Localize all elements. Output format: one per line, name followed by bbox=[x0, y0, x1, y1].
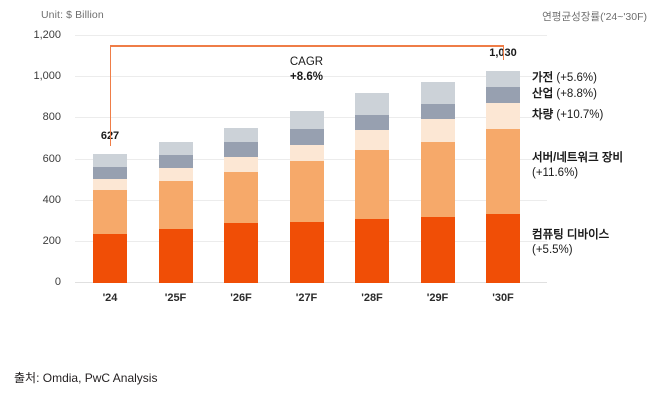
y-axis-tick-label: 1,000 bbox=[33, 70, 61, 82]
series-label-name: 가전 bbox=[532, 72, 553, 84]
bar-total-label: 1,030 bbox=[489, 47, 517, 59]
bar-group[interactable]: '29F bbox=[421, 82, 455, 283]
bar-segment[interactable] bbox=[224, 128, 258, 142]
bar-segment[interactable] bbox=[355, 130, 389, 150]
series-label-name: 서버/네트워크 장비 bbox=[532, 152, 623, 164]
x-axis-tick-label: '25F bbox=[165, 292, 187, 304]
bar-segment[interactable] bbox=[224, 157, 258, 172]
series-label-3: 차량 (+10.7%) bbox=[532, 108, 603, 123]
bar-segment[interactable] bbox=[486, 103, 520, 129]
bar-segment[interactable] bbox=[290, 129, 324, 145]
series-label-name: 차량 bbox=[532, 109, 553, 121]
y-axis-tick-label: 0 bbox=[55, 276, 61, 288]
chart-container: Unit: $ Billion 연평균성장률('24~'30F) 0200400… bbox=[0, 0, 655, 402]
series-label-cagr: (+11.6%) bbox=[532, 167, 578, 179]
x-axis-tick-label: '26F bbox=[230, 292, 252, 304]
bar-segment[interactable] bbox=[486, 129, 520, 213]
x-axis-tick-label: '27F bbox=[296, 292, 318, 304]
x-axis-tick-label: '29F bbox=[427, 292, 449, 304]
bar-segment[interactable] bbox=[421, 119, 455, 142]
bar-segment[interactable] bbox=[224, 142, 258, 157]
bar-segment[interactable] bbox=[355, 93, 389, 115]
bar-group[interactable]: 627'24 bbox=[93, 154, 127, 283]
y-axis-tick-label: 200 bbox=[43, 235, 61, 247]
bar-segment[interactable] bbox=[93, 190, 127, 234]
bar-group[interactable]: '27F bbox=[290, 111, 324, 283]
bar-segment[interactable] bbox=[486, 71, 520, 87]
bar-segment[interactable] bbox=[421, 82, 455, 104]
series-label-cagr: (+5.6%) bbox=[556, 72, 597, 84]
cagr-header-label: 연평균성장률('24~'30F) bbox=[542, 9, 647, 24]
x-axis-tick-label: '30F bbox=[492, 292, 514, 304]
bar-segment[interactable] bbox=[290, 111, 324, 129]
y-axis-tick-label: 1,200 bbox=[33, 29, 61, 41]
bar-segment[interactable] bbox=[421, 217, 455, 283]
series-label-name: 컴퓨팅 디바이스 bbox=[532, 229, 609, 241]
y-axis-tick-label: 600 bbox=[43, 153, 61, 165]
bar-segment[interactable] bbox=[355, 115, 389, 130]
bar-segment[interactable] bbox=[159, 142, 193, 155]
plot-area: 02004006008001,0001,200 627'24'25F'26F'2… bbox=[85, 36, 547, 283]
bar-group[interactable]: '28F bbox=[355, 93, 389, 283]
bar-segment[interactable] bbox=[159, 155, 193, 168]
bar-group[interactable]: 1,030'30F bbox=[486, 71, 520, 283]
bar-segment[interactable] bbox=[159, 181, 193, 229]
series-label-cagr: (+8.8%) bbox=[556, 88, 597, 100]
source-note: 출처: Omdia, PwC Analysis bbox=[14, 369, 157, 386]
series-label-2: 서버/네트워크 장비(+11.6%) bbox=[532, 151, 623, 181]
bar-segment[interactable] bbox=[159, 229, 193, 283]
bar-segment[interactable] bbox=[93, 234, 127, 283]
bar-segment[interactable] bbox=[355, 150, 389, 218]
bar-segment[interactable] bbox=[355, 219, 389, 283]
bar-segment[interactable] bbox=[421, 142, 455, 216]
series-label-4: 산업 (+8.8%) bbox=[532, 87, 597, 102]
bar-group[interactable]: '26F bbox=[224, 128, 258, 283]
bar-segment[interactable] bbox=[486, 87, 520, 103]
series-label-5: 가전 (+5.6%) bbox=[532, 71, 597, 86]
bar-segment[interactable] bbox=[93, 167, 127, 179]
bar-segment[interactable] bbox=[486, 214, 520, 283]
bar-segment[interactable] bbox=[224, 172, 258, 222]
bar-segment[interactable] bbox=[93, 179, 127, 189]
bar-segment[interactable] bbox=[290, 145, 324, 161]
series-label-1: 컴퓨팅 디바이스(+5.5%) bbox=[532, 228, 609, 258]
series-label-cagr: (+5.5%) bbox=[532, 244, 573, 256]
bar-segment[interactable] bbox=[159, 168, 193, 181]
bars-layer: 627'24'25F'26F'27F'28F'29F1,030'30F bbox=[85, 36, 547, 283]
unit-label: Unit: $ Billion bbox=[41, 9, 104, 21]
bar-segment[interactable] bbox=[93, 154, 127, 167]
series-label-name: 산업 bbox=[532, 88, 553, 100]
x-axis-tick-label: '28F bbox=[361, 292, 383, 304]
bar-total-label: 627 bbox=[101, 130, 119, 142]
x-axis-tick-label: '24 bbox=[103, 292, 118, 304]
bar-segment[interactable] bbox=[224, 223, 258, 283]
bar-segment[interactable] bbox=[290, 161, 324, 221]
y-axis-tick-label: 800 bbox=[43, 111, 61, 123]
series-label-cagr: (+10.7%) bbox=[556, 109, 603, 121]
bar-segment[interactable] bbox=[290, 222, 324, 283]
bar-segment[interactable] bbox=[421, 104, 455, 119]
bar-group[interactable]: '25F bbox=[159, 142, 193, 283]
y-axis-tick-label: 400 bbox=[43, 194, 61, 206]
